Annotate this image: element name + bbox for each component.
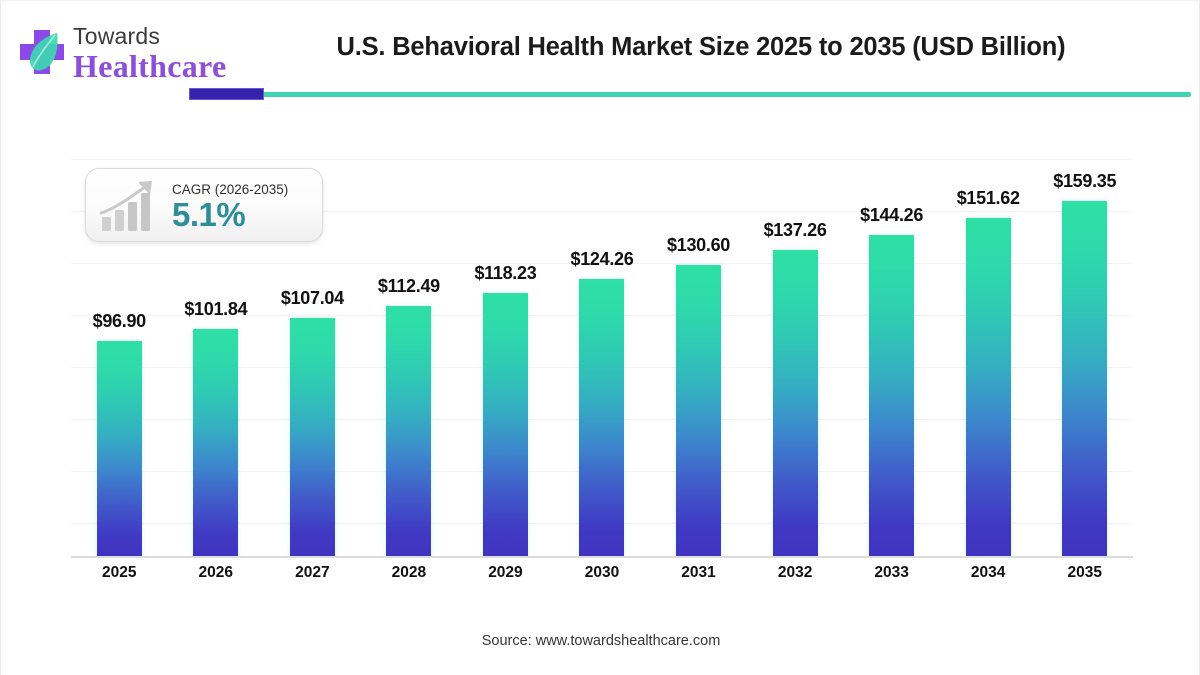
- source-attribution: Source: www.towardshealthcare.com: [1, 633, 1200, 649]
- x-axis-tick-2028: 2028: [361, 564, 458, 582]
- x-axis-tick-2031: 2031: [650, 564, 747, 582]
- bar-value-label: $130.60: [667, 235, 730, 256]
- bar-2028[interactable]: [386, 306, 431, 557]
- bar-2027[interactable]: [290, 318, 335, 557]
- bar-group: $124.26: [554, 151, 651, 557]
- x-axis-tick-2032: 2032: [747, 564, 844, 582]
- bar-2029[interactable]: [483, 293, 528, 557]
- x-axis-tick-2025: 2025: [71, 564, 168, 582]
- bar-2031[interactable]: [676, 265, 721, 557]
- bar-2032[interactable]: [773, 250, 818, 557]
- brand-line-towards: Towards: [73, 23, 226, 49]
- bar-value-label: $112.49: [378, 276, 440, 297]
- bar-group: $144.26: [843, 151, 940, 557]
- page-title: U.S. Behavioral Health Market Size 2025 …: [251, 33, 1151, 62]
- bar-group: $137.26: [747, 151, 844, 557]
- bar-2035[interactable]: [1062, 201, 1107, 557]
- bar-2030[interactable]: [579, 279, 624, 557]
- bar-group: $151.62: [940, 151, 1037, 557]
- bar-value-label: $144.26: [860, 205, 923, 226]
- cagr-callout-card: CAGR (2026-2035) 5.1%: [85, 168, 323, 242]
- x-axis-tick-2030: 2030: [554, 564, 651, 582]
- x-axis-tick-2034: 2034: [940, 564, 1037, 582]
- x-axis-tick-2035: 2035: [1036, 564, 1133, 582]
- bar-group: $159.35: [1036, 151, 1133, 557]
- bar-value-label: $107.04: [281, 288, 344, 309]
- bar-value-label: $124.26: [571, 249, 634, 270]
- bar-2025[interactable]: [97, 341, 142, 557]
- bar-value-label: $101.84: [184, 299, 247, 320]
- bar-group: $112.49: [361, 151, 458, 557]
- x-axis-tick-2029: 2029: [457, 564, 554, 582]
- brand-logo[interactable]: Towards Healthcare: [17, 13, 247, 83]
- bar-value-label: $96.90: [93, 311, 146, 332]
- bar-group: $118.23: [457, 151, 554, 557]
- infographic-canvas: Towards Healthcare U.S. Behavioral Healt…: [0, 0, 1200, 675]
- x-axis-tick-2026: 2026: [168, 564, 265, 582]
- brand-wordmark: Towards Healthcare: [73, 23, 226, 83]
- cagr-value: 5.1%: [172, 197, 245, 233]
- bar-value-label: $118.23: [474, 263, 536, 284]
- bar-2026[interactable]: [193, 329, 238, 557]
- bar-group: $130.60: [650, 151, 747, 557]
- brand-line-healthcare: Healthcare: [73, 49, 226, 83]
- header: Towards Healthcare U.S. Behavioral Healt…: [1, 1, 1200, 97]
- header-divider-teal: [189, 92, 1191, 97]
- header-divider-accent: [189, 88, 264, 100]
- bar-value-label: $151.62: [957, 188, 1020, 209]
- bar-value-label: $159.35: [1053, 171, 1116, 192]
- cagr-period-label: CAGR (2026-2035): [172, 182, 288, 197]
- x-axis-line: [71, 556, 1133, 558]
- bar-2033[interactable]: [869, 235, 914, 557]
- bar-value-label: $137.26: [764, 220, 827, 241]
- x-axis-tick-2033: 2033: [843, 564, 940, 582]
- x-axis-tick-2027: 2027: [264, 564, 361, 582]
- medical-cross-leaf-icon: [17, 27, 67, 77]
- bar-2034[interactable]: [966, 218, 1011, 557]
- growth-bar-chart-arrow-icon: [98, 179, 164, 233]
